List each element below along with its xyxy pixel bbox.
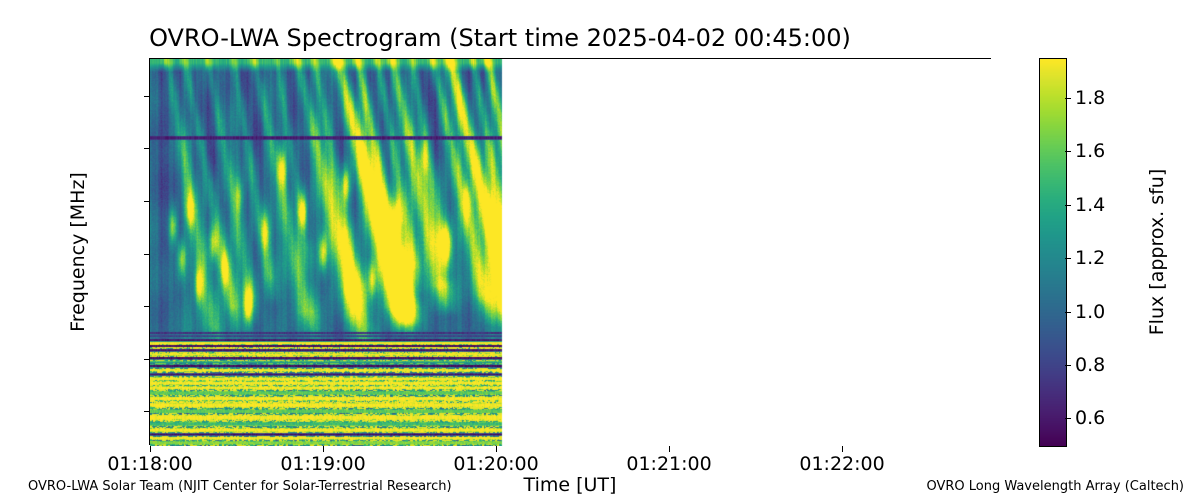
y-tick-mark [144, 96, 150, 97]
y-tick-mark [144, 411, 150, 412]
colorbar-tick-label: 1.6 [1075, 140, 1105, 162]
y-tick-mark [144, 201, 150, 202]
colorbar-tick-label: 1.0 [1075, 301, 1105, 323]
footer-credit-right: OVRO Long Wavelength Array (Caltech) [926, 479, 1184, 494]
colorbar-label: Flux [approx. sfu] [1146, 168, 1168, 335]
x-tick-label: 01:21:00 [626, 453, 711, 475]
x-tick-mark [323, 446, 324, 452]
colorbar-tick-mark [1065, 98, 1071, 99]
colorbar-tick-label: 1.4 [1075, 194, 1105, 216]
colorbar-tick-mark [1065, 258, 1071, 259]
y-axis-label: Frequency [MHz] [67, 172, 89, 332]
colorbar-tick-mark [1065, 205, 1071, 206]
colorbar: 0.60.81.01.21.41.61.8 Flux [approx. sfu] [1039, 58, 1065, 445]
colorbar-tick-mark [1065, 365, 1071, 366]
x-axis-label: Time [UT] [524, 474, 617, 496]
x-tick-mark [842, 446, 843, 452]
y-tick-mark [144, 254, 150, 255]
spectrogram-image[interactable] [150, 59, 992, 446]
y-tick-mark [144, 306, 150, 307]
page-title: OVRO-LWA Spectrogram (Start time 2025-04… [0, 24, 1000, 52]
x-tick-mark [496, 446, 497, 452]
spectrogram-figure: OVRO-LWA Spectrogram (Start time 2025-04… [0, 0, 1200, 500]
colorbar-tick-label: 1.8 [1075, 87, 1105, 109]
x-tick-label: 01:18:00 [107, 453, 192, 475]
x-tick-label: 01:22:00 [799, 453, 884, 475]
colorbar-tick-mark [1065, 151, 1071, 152]
colorbar-tick-mark [1065, 418, 1071, 419]
y-tick-mark [144, 148, 150, 149]
colorbar-tick-label: 1.2 [1075, 247, 1105, 269]
y-tick-mark [144, 359, 150, 360]
colorbar-tick-label: 0.6 [1075, 407, 1105, 429]
x-tick-label: 01:19:00 [280, 453, 365, 475]
x-tick-label: 01:20:00 [453, 453, 538, 475]
x-tick-mark [150, 446, 151, 452]
colorbar-gradient [1039, 58, 1067, 447]
colorbar-tick-label: 0.8 [1075, 354, 1105, 376]
colorbar-tick-mark [1065, 312, 1071, 313]
x-tick-mark [669, 446, 670, 452]
footer-credit-left: OVRO-LWA Solar Team (NJIT Center for Sol… [28, 479, 452, 494]
spectrogram-axes[interactable]: 20304050607080 01:18:0001:19:0001:20:000… [149, 58, 991, 445]
